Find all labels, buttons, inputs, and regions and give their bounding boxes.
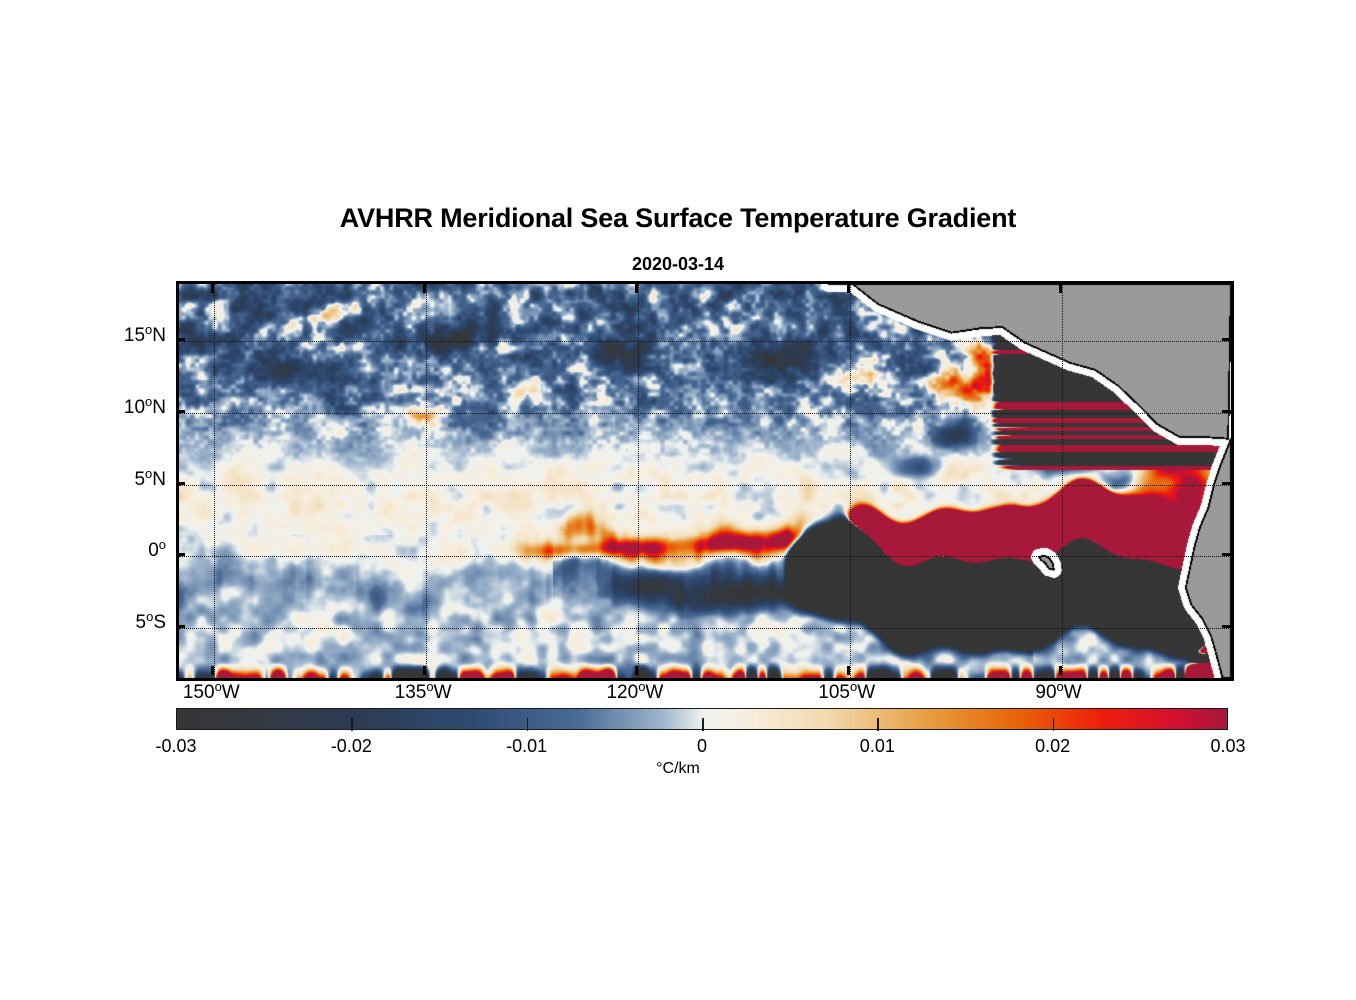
tick-mark-lat [1222, 625, 1231, 628]
colorbar-label-3: 0 [697, 736, 707, 757]
colorbar-tick [351, 718, 353, 731]
longitude-label-2: 120oW [606, 682, 663, 704]
colorbar-tick [1053, 718, 1055, 731]
colorbar-tick [702, 718, 704, 731]
tick-mark-lon [423, 666, 426, 675]
tick-mark-lat [176, 482, 185, 485]
tick-mark-lat [1222, 553, 1231, 556]
colorbar-tick [877, 718, 879, 731]
colorbar-unit-label: °C/km [0, 760, 1356, 778]
tick-mark-lon [1059, 666, 1062, 675]
tick-mark-lat [176, 625, 185, 628]
tick-mark-lat [1222, 482, 1231, 485]
latitude-label-3: 0o [148, 540, 166, 562]
tick-mark-lat [1222, 410, 1231, 413]
tick-mark-lat [176, 338, 185, 341]
colorbar-label-0: -0.03 [155, 736, 196, 757]
colorbar-label-1: -0.02 [331, 736, 372, 757]
latitude-label-4: 5oS [136, 612, 167, 634]
tick-mark-lon [1059, 284, 1062, 293]
tick-mark-lat [176, 410, 185, 413]
latitude-label-1: 10oN [124, 397, 166, 419]
chart-subtitle: 2020-03-14 [0, 254, 1356, 275]
longitude-label-3: 105oW [818, 682, 875, 704]
colorbar-label-5: 0.02 [1035, 736, 1070, 757]
figure-canvas: AVHRR Meridional Sea Surface Temperature… [0, 0, 1356, 1000]
tick-mark-lat [176, 553, 185, 556]
tick-mark-lon [211, 284, 214, 293]
longitude-label-0: 150oW [183, 682, 240, 704]
colorbar-tick [527, 718, 529, 731]
latitude-label-2: 5oN [134, 469, 166, 491]
tick-mark-lon [635, 284, 638, 293]
colorbar-label-2: -0.01 [506, 736, 547, 757]
longitude-label-4: 90oW [1035, 682, 1081, 704]
map-plot-area[interactable] [176, 281, 1234, 681]
tick-mark-lon [847, 284, 850, 293]
tick-mark-lon [847, 666, 850, 675]
chart-title: AVHRR Meridional Sea Surface Temperature… [0, 203, 1356, 234]
tick-mark-lon [635, 666, 638, 675]
latitude-label-0: 15oN [124, 325, 166, 347]
colorbar-label-6: 0.03 [1210, 736, 1245, 757]
longitude-label-1: 135oW [395, 682, 452, 704]
sst-gradient-heatmap [179, 284, 1231, 678]
tick-mark-lon [211, 666, 214, 675]
colorbar-label-4: 0.01 [860, 736, 895, 757]
tick-mark-lon [423, 284, 426, 293]
tick-mark-lat [1222, 338, 1231, 341]
